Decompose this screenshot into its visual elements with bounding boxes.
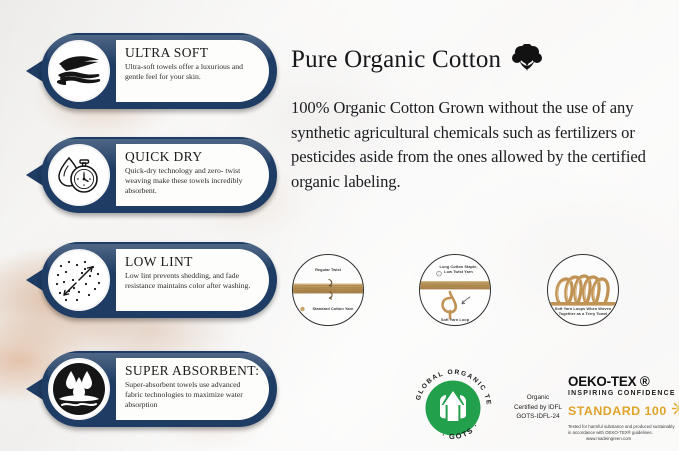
yarn-bottom-label: Soft Yarn Loops When Woven Together as a… (548, 307, 618, 317)
yarn-bottom-label: Soft Yarn Loop (420, 318, 490, 323)
oeko-tex-tagline: INSPIRING CONFIDENCE (568, 391, 676, 398)
gots-certification-logo: GLOBAL ORGANIC TEXTILE STANDARD · GOTS · (410, 365, 496, 451)
headline-row: Pure Organic Cotton (291, 44, 542, 76)
low-twist-diagram: Long Cotton Staple, Low Twist Yarn Soft … (419, 254, 491, 326)
lint-particles-icon (48, 249, 110, 311)
cotton-boll-icon (512, 44, 542, 76)
sunburst-icon (672, 401, 679, 421)
gots-certification-caption: Organic Certified by IDFL GOTS-IDFL-24 (505, 393, 571, 422)
water-absorption-icon (48, 358, 110, 420)
oeko-tex-certification: OEKO-TEX ® INSPIRING CONFIDENCE STANDARD… (568, 375, 676, 443)
oeko-tex-name: OEKO-TEX ® (568, 375, 676, 388)
feature-description: Low lint prevents shedding, and fade res… (125, 271, 255, 291)
feature-card-quick-dry: QUICK DRY Quick-dry technology and zero-… (26, 137, 277, 213)
feature-description: Ultra-soft towels offer a luxurious and … (125, 62, 255, 82)
feature-title: LOW LINT (125, 255, 255, 269)
oeko-tex-fine-print: Tested for harmful substance and produce… (568, 424, 676, 443)
droplet-stopwatch-icon (48, 144, 110, 206)
pill-body: ULTRA SOFT Ultra-soft towels offer a lux… (116, 40, 269, 102)
feature-title: SUPER ABSORBENT: (125, 364, 255, 378)
body-copy: 100% Organic Cotton Grown without the us… (291, 96, 665, 194)
infographic-canvas: ULTRA SOFT Ultra-soft towels offer a lux… (0, 0, 679, 451)
pill-body: LOW LINT Low lint prevents shedding, and… (116, 249, 269, 311)
feature-description: Quick-dry technology and zero- twist wea… (125, 166, 255, 197)
terry-loops-diagram: Soft Yarn Loops When Woven Together as a… (547, 254, 619, 326)
oeko-tex-url: www.madeingreen.com (586, 436, 631, 441)
oeko-tex-fine-print-text: Tested for harmful substance and produce… (568, 424, 675, 435)
feature-card-ultra-soft: ULTRA SOFT Ultra-soft towels offer a lux… (26, 33, 277, 109)
regular-twist-diagram: Regular Twist Standard Cotton Yarn (292, 254, 364, 326)
feature-title: QUICK DRY (125, 150, 255, 164)
yarn-bottom-label: Standard Cotton Yarn (293, 307, 363, 312)
oeko-tex-standard-row: STANDARD 100 (568, 401, 676, 421)
feature-title: ULTRA SOFT (125, 46, 255, 60)
hand-feather-icon (48, 40, 110, 102)
page-title: Pure Organic Cotton (291, 46, 501, 74)
feature-description: Super-absorbent towels use advanced fabr… (125, 380, 255, 411)
oeko-tex-standard: STANDARD 100 (568, 405, 667, 417)
feature-card-low-lint: LOW LINT Low lint prevents shedding, and… (26, 242, 277, 318)
pill-body: SUPER ABSORBENT: Super-absorbent towels … (116, 358, 269, 420)
feature-card-super-absorbent: SUPER ABSORBENT: Super-absorbent towels … (26, 351, 277, 427)
pill-body: QUICK DRY Quick-dry technology and zero-… (116, 144, 269, 206)
